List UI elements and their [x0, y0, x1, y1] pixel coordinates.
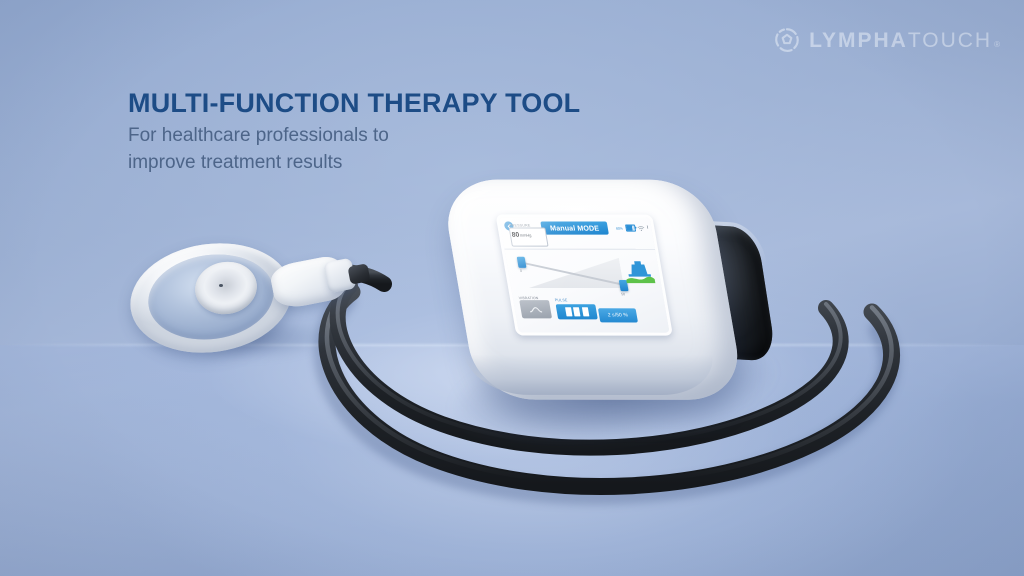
slide-canvas: Manual MODE PRESSURE 80mmHg 80% i [0, 0, 1024, 576]
vignette-overlay [0, 0, 1024, 576]
